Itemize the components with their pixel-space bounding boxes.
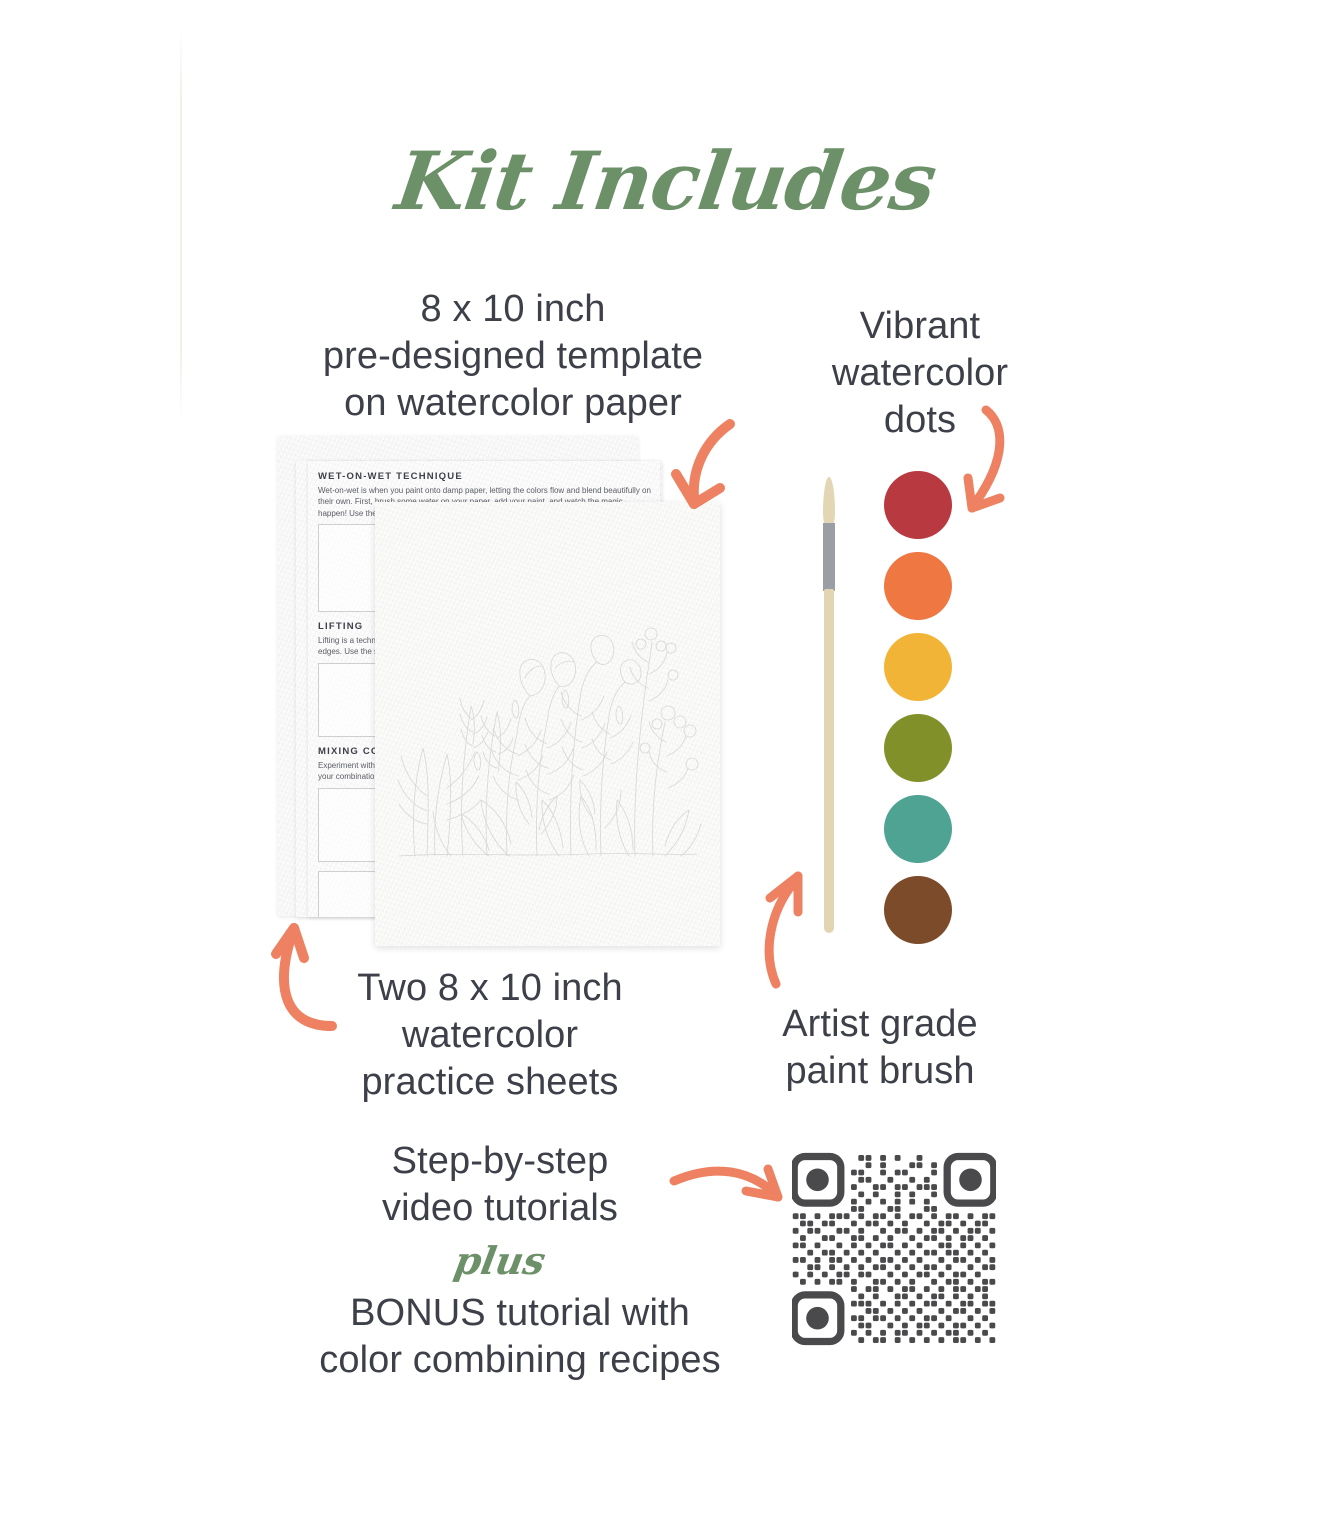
template-sheet-front <box>375 502 720 946</box>
watercolor-dot-teal <box>884 795 952 863</box>
caption-bonus-tutorial: BONUS tutorial withcolor combining recip… <box>280 1290 760 1384</box>
arrow-to-dots-icon <box>950 398 1050 528</box>
brush-ferrule <box>823 523 835 591</box>
watercolor-dot-brown <box>884 876 952 944</box>
plus-word: plus <box>326 1238 674 1283</box>
watercolor-dot-crimson-red <box>884 471 952 539</box>
watercolor-dot-golden-yellow <box>884 633 952 701</box>
qr-code[interactable] <box>792 1147 996 1351</box>
watercolor-dot-orange <box>884 552 952 620</box>
kit-includes-page: Kit Includes 8 x 10 inchpre-designed tem… <box>0 0 1332 1528</box>
brush-handle <box>824 589 834 933</box>
caption-practice-sheets: Two 8 x 10 inchwatercolorpractice sheets <box>300 965 680 1106</box>
caption-template: 8 x 10 inchpre-designed templateon water… <box>258 286 768 427</box>
page-title: Kit Includes <box>0 134 1332 228</box>
paint-brush <box>820 477 838 933</box>
arrow-to-qr-code-icon <box>668 1155 788 1235</box>
wildflower-line-art <box>389 556 706 904</box>
brush-tip <box>823 477 835 527</box>
arrow-to-template-icon <box>662 418 762 528</box>
caption-video-tutorials: Step-by-stepvideo tutorials <box>330 1138 670 1232</box>
instruction-heading-0: WET-ON-WET TECHNIQUE <box>318 471 652 482</box>
watercolor-dot-olive-green <box>884 714 952 782</box>
caption-paint-brush: Artist gradepaint brush <box>730 1001 1030 1095</box>
